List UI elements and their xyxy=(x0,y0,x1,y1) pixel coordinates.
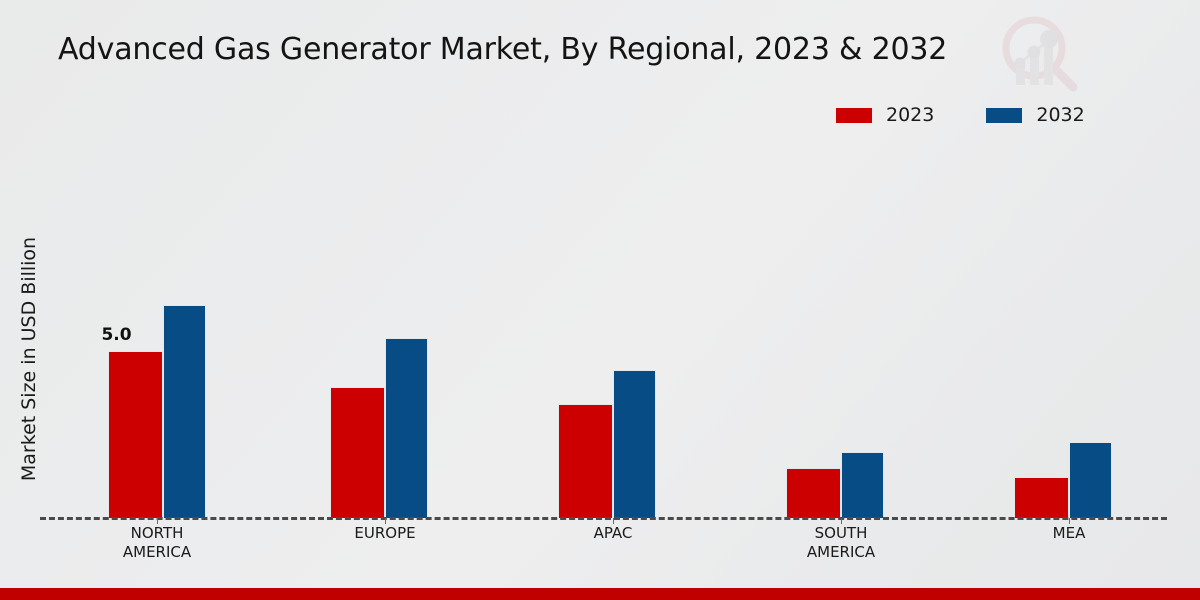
tick-line-1: EUROPE xyxy=(285,524,485,543)
watermark-logo-icon xyxy=(994,8,1082,96)
legend-label-2023: 2023 xyxy=(886,106,934,125)
tick-line-1: NORTH xyxy=(57,524,257,543)
y-axis-title: Market Size in USD Billion xyxy=(18,189,40,529)
legend-swatch-2032 xyxy=(986,108,1022,123)
tick-line-2: AMERICA xyxy=(57,543,257,562)
footer-accent-bar xyxy=(0,588,1200,600)
bar-2032-europe[interactable] xyxy=(385,338,428,518)
bar-2032-apac[interactable] xyxy=(613,370,656,518)
bar-2023-apac[interactable] xyxy=(558,404,613,518)
legend-item-2023[interactable]: 2023 xyxy=(836,106,934,125)
bar-group-north-america: 5.0 xyxy=(108,140,208,518)
x-tick-label-north-america: NORTH AMERICA xyxy=(57,524,257,562)
bar-group-europe xyxy=(330,140,430,518)
chart-figure: Advanced Gas Generator Market, By Region… xyxy=(0,0,1200,600)
bar-value-label: 5.0 xyxy=(89,325,144,345)
bar-group-mea xyxy=(1014,140,1114,518)
bar-group-south-america xyxy=(786,140,886,518)
plot-area: 5.0 xyxy=(40,140,1170,518)
bar-2023-north-america[interactable]: 5.0 xyxy=(108,351,163,518)
x-tick-label-apac: APAC xyxy=(513,524,713,543)
bar-2023-mea[interactable] xyxy=(1014,477,1069,518)
bar-2023-south-america[interactable] xyxy=(786,468,841,518)
chart-legend: 2023 2032 xyxy=(836,104,1085,126)
x-tick-label-south-america: SOUTH AMERICA xyxy=(741,524,941,562)
x-tick-label-mea: MEA xyxy=(969,524,1169,543)
legend-item-2032[interactable]: 2032 xyxy=(986,106,1084,125)
tick-line-2: AMERICA xyxy=(741,543,941,562)
bar-2023-europe[interactable] xyxy=(330,387,385,518)
legend-label-2032: 2032 xyxy=(1036,106,1084,125)
x-axis-baseline xyxy=(40,517,1167,520)
bar-2032-mea[interactable] xyxy=(1069,442,1112,518)
bar-2032-south-america[interactable] xyxy=(841,452,884,518)
tick-line-1: MEA xyxy=(969,524,1169,543)
tick-line-1: SOUTH xyxy=(741,524,941,543)
bar-group-apac xyxy=(558,140,658,518)
bar-2032-north-america[interactable] xyxy=(163,305,206,518)
chart-title: Advanced Gas Generator Market, By Region… xyxy=(58,32,947,67)
tick-line-1: APAC xyxy=(513,524,713,543)
legend-swatch-2023 xyxy=(836,108,872,123)
x-tick-label-europe: EUROPE xyxy=(285,524,485,543)
